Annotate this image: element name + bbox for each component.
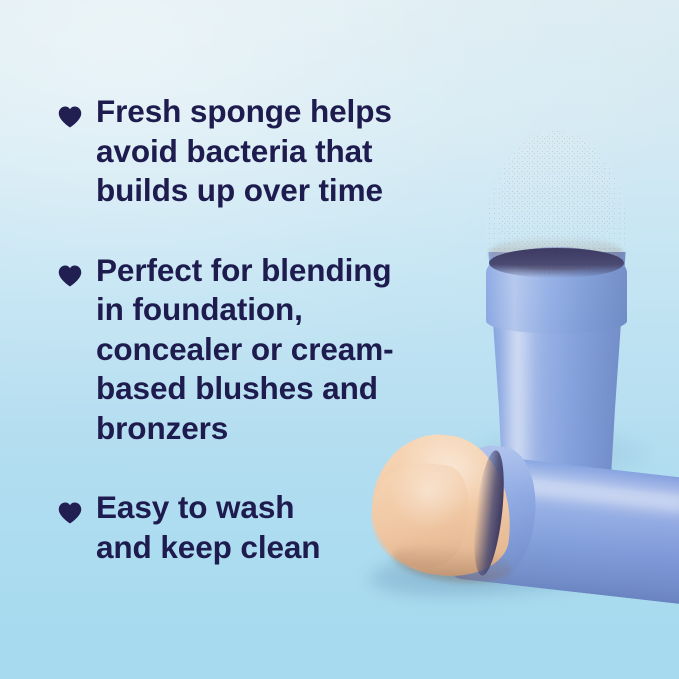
heart-icon	[58, 264, 82, 288]
heart-icon	[58, 105, 82, 129]
list-item: Easy to wash and keep clean	[58, 488, 458, 567]
upright-sponge-tip-apex	[498, 131, 614, 249]
list-item: Fresh sponge helps avoid bacteria that b…	[58, 92, 458, 211]
product-benefits-image: Fresh sponge helps avoid bacteria that b…	[0, 0, 679, 679]
list-item-label: Easy to wash and keep clean	[96, 488, 320, 567]
heart-icon	[58, 501, 82, 525]
upright-collar-seam	[489, 248, 624, 278]
upright-handle-highlight	[503, 258, 533, 490]
list-item-label: Perfect for blending in foundation, conc…	[96, 251, 394, 449]
list-item-label: Fresh sponge helps avoid bacteria that b…	[96, 92, 392, 211]
list-item: Perfect for blending in foundation, conc…	[58, 251, 458, 449]
benefits-list: Fresh sponge helps avoid bacteria that b…	[58, 92, 458, 567]
lying-collar-seam	[469, 449, 509, 577]
upright-handle	[487, 252, 627, 502]
upright-sponge-tip-shading	[489, 236, 623, 270]
upright-sponge-tip	[485, 133, 627, 275]
upright-sponge-shadow	[470, 430, 650, 476]
lying-handle	[448, 452, 679, 605]
upright-collar	[486, 247, 627, 333]
lying-handle-highlight	[469, 470, 679, 516]
